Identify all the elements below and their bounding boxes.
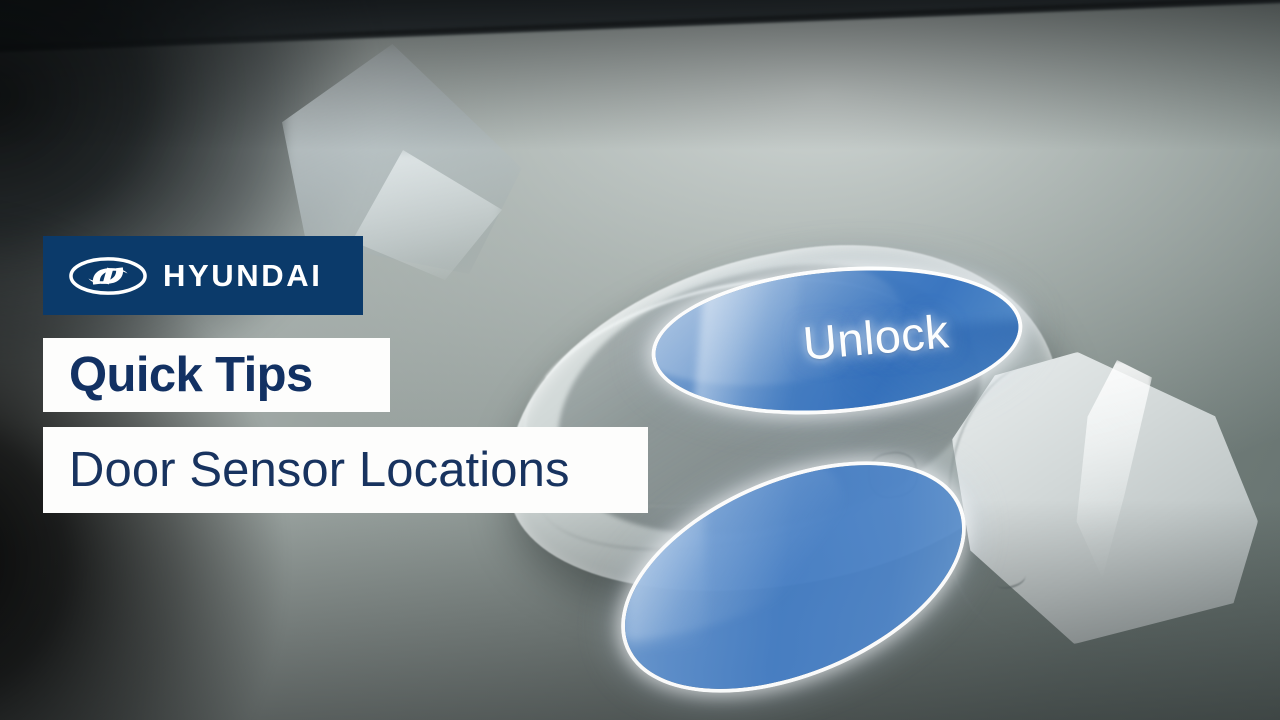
unlock-sensor-glint: [693, 268, 800, 424]
title-lockup: HYUNDAI Quick Tips Door Sensor Locations: [43, 236, 363, 315]
subject-title-box: Door Sensor Locations: [43, 427, 648, 513]
vignette-top: [0, 0, 1280, 150]
hyundai-logo-icon: [69, 256, 147, 296]
hyundai-wordmark: HYUNDAI: [163, 260, 322, 291]
series-title: Quick Tips: [69, 351, 313, 400]
hyundai-brand-bar: HYUNDAI: [43, 236, 363, 315]
video-frame: Unlock HYUNDAI Quick Tips Door Sensor Lo…: [0, 0, 1280, 720]
series-title-box: Quick Tips: [43, 338, 390, 412]
subject-title: Door Sensor Locations: [69, 446, 570, 495]
